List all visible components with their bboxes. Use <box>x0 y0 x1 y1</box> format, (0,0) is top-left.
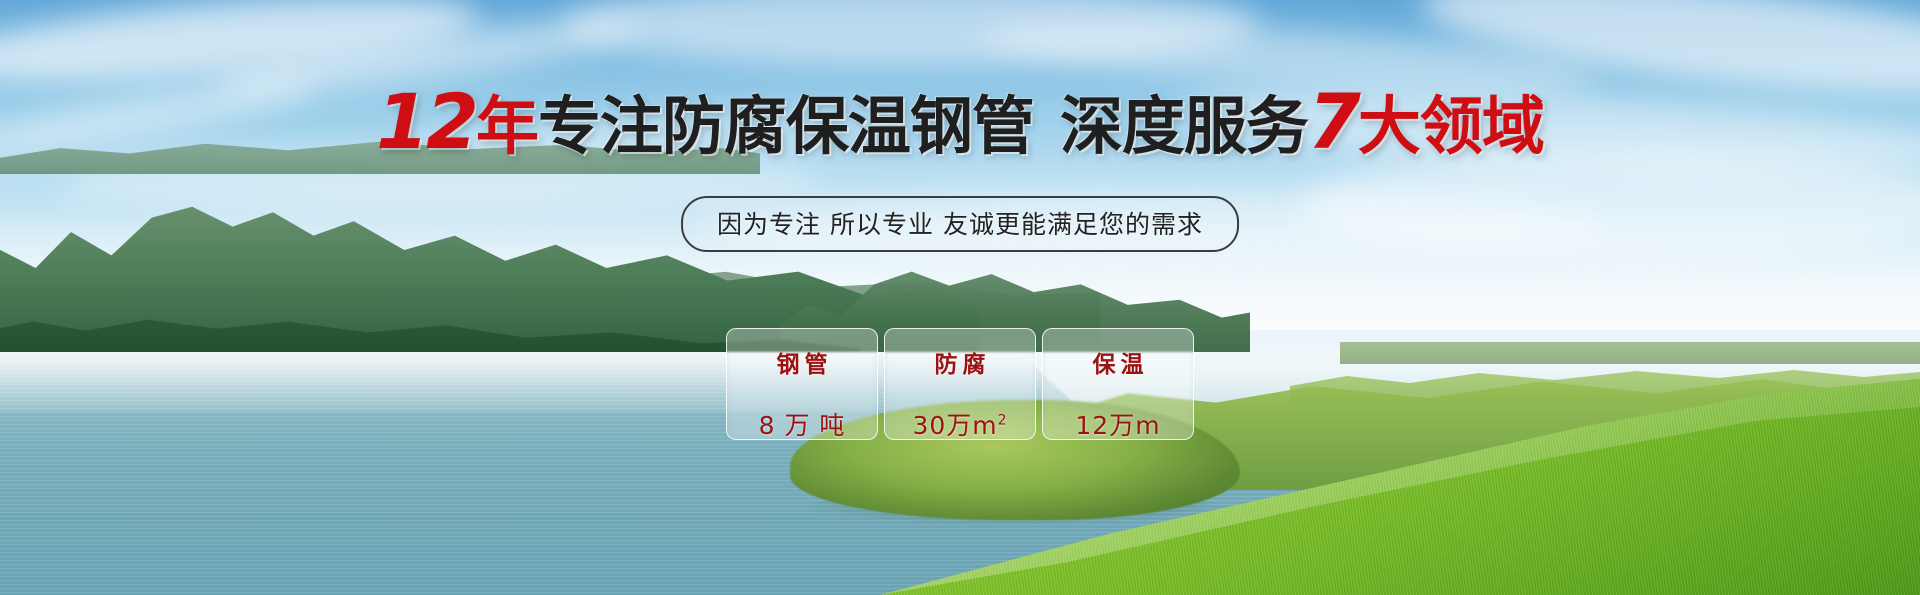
subtitle-pill: 因为专注 所以专业 友诚更能满足您的需求 <box>681 196 1239 252</box>
stat-card-value-text: 12万m <box>1075 411 1160 440</box>
stat-card-list: 钢管 8 万 吨 防腐 30万m2 保温 12万m <box>726 328 1194 440</box>
stat-card-value: 12万m <box>1075 406 1160 442</box>
stat-card-caption: 保温 <box>1088 345 1149 379</box>
stat-card-value-text: 30万m <box>912 411 997 440</box>
stat-card-steel-pipe[interactable]: 钢管 8 万 吨 <box>726 328 878 440</box>
headline-years-unit: 年 <box>476 90 538 163</box>
headline-segment-3a: 大领域 <box>1358 90 1544 163</box>
stat-card-value-superscript: 2 <box>998 413 1008 429</box>
headline-segment-2: 深度服务 <box>1060 90 1308 163</box>
stat-card-insulation[interactable]: 保温 12万m <box>1042 328 1194 440</box>
headline-years-number: 12 <box>376 77 476 166</box>
stat-card-caption: 钢管 <box>772 345 833 379</box>
banner-content: 12年专注防腐保温钢管深度服务7大领域 因为专注 所以专业 友诚更能满足您的需求… <box>0 0 1920 595</box>
headline: 12年专注防腐保温钢管深度服务7大领域 <box>0 84 1920 160</box>
stat-card-anticorrosion[interactable]: 防腐 30万m2 <box>884 328 1036 440</box>
headline-segment-1: 专注防腐保温钢管 <box>538 90 1034 163</box>
headline-fields-number: 7 <box>1308 77 1358 166</box>
stat-card-value-text: 8 万 吨 <box>759 411 846 440</box>
promo-banner: 12年专注防腐保温钢管深度服务7大领域 因为专注 所以专业 友诚更能满足您的需求… <box>0 0 1920 595</box>
stat-card-value: 30万m2 <box>912 406 1007 442</box>
stat-card-value: 8 万 吨 <box>759 406 846 442</box>
stat-card-caption: 防腐 <box>930 345 991 379</box>
